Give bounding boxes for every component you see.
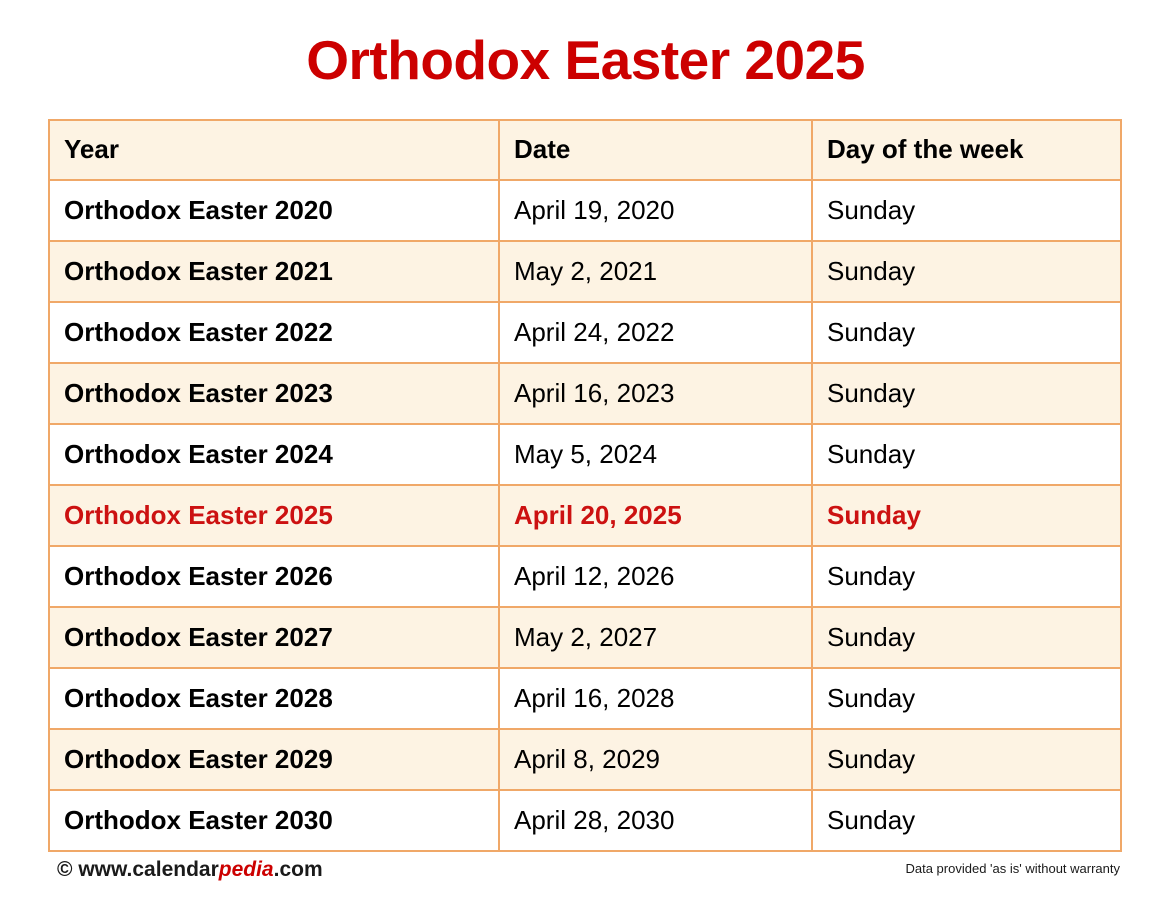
table-row: Orthodox Easter 2028April 16, 2028Sunday bbox=[49, 668, 1121, 729]
cell-day-of-week: Sunday bbox=[812, 180, 1121, 241]
cell-day-of-week: Sunday bbox=[812, 790, 1121, 851]
cell-day-of-week: Sunday bbox=[812, 607, 1121, 668]
cell-day-of-week: Sunday bbox=[812, 546, 1121, 607]
cell-date: April 28, 2030 bbox=[499, 790, 812, 851]
table-body: Orthodox Easter 2020April 19, 2020Sunday… bbox=[49, 180, 1121, 851]
table-row: Orthodox Easter 2026April 12, 2026Sunday bbox=[49, 546, 1121, 607]
cell-day-of-week: Sunday bbox=[812, 668, 1121, 729]
table-row: Orthodox Easter 2020April 19, 2020Sunday bbox=[49, 180, 1121, 241]
cell-year: Orthodox Easter 2029 bbox=[49, 729, 499, 790]
cell-date: May 5, 2024 bbox=[499, 424, 812, 485]
table-row: Orthodox Easter 2027May 2, 2027Sunday bbox=[49, 607, 1121, 668]
table-row: Orthodox Easter 2024May 5, 2024Sunday bbox=[49, 424, 1121, 485]
cell-year: Orthodox Easter 2027 bbox=[49, 607, 499, 668]
easter-dates-table-wrap: Year Date Day of the week Orthodox Easte… bbox=[48, 119, 1120, 852]
table-row: Orthodox Easter 2030April 28, 2030Sunday bbox=[49, 790, 1121, 851]
copyright-notice: © www.calendarpedia.com bbox=[57, 858, 323, 882]
calendarpedia-page: Orthodox Easter 2025 Year Date Day of th… bbox=[0, 0, 1171, 924]
cell-year: Orthodox Easter 2026 bbox=[49, 546, 499, 607]
site-name-accent: pedia bbox=[219, 858, 274, 881]
table-row: Orthodox Easter 2023April 16, 2023Sunday bbox=[49, 363, 1121, 424]
cell-date: May 2, 2027 bbox=[499, 607, 812, 668]
cell-date: May 2, 2021 bbox=[499, 241, 812, 302]
cell-date: April 8, 2029 bbox=[499, 729, 812, 790]
cell-day-of-week: Sunday bbox=[812, 424, 1121, 485]
cell-date: April 20, 2025 bbox=[499, 485, 812, 546]
cell-year: Orthodox Easter 2022 bbox=[49, 302, 499, 363]
cell-day-of-week: Sunday bbox=[812, 241, 1121, 302]
table-header: Year Date Day of the week bbox=[49, 120, 1121, 180]
cell-date: April 19, 2020 bbox=[499, 180, 812, 241]
cell-year: Orthodox Easter 2030 bbox=[49, 790, 499, 851]
cell-year: Orthodox Easter 2020 bbox=[49, 180, 499, 241]
cell-year: Orthodox Easter 2021 bbox=[49, 241, 499, 302]
column-header-year: Year bbox=[49, 120, 499, 180]
easter-dates-table: Year Date Day of the week Orthodox Easte… bbox=[48, 119, 1122, 852]
page-title: Orthodox Easter 2025 bbox=[0, 0, 1171, 88]
cell-year: Orthodox Easter 2023 bbox=[49, 363, 499, 424]
disclaimer-text: Data provided 'as is' without warranty bbox=[905, 861, 1120, 876]
cell-year: Orthodox Easter 2028 bbox=[49, 668, 499, 729]
table-row: Orthodox Easter 2025April 20, 2025Sunday bbox=[49, 485, 1121, 546]
cell-date: April 16, 2023 bbox=[499, 363, 812, 424]
table-row: Orthodox Easter 2029April 8, 2029Sunday bbox=[49, 729, 1121, 790]
cell-day-of-week: Sunday bbox=[812, 485, 1121, 546]
table-row: Orthodox Easter 2021May 2, 2021Sunday bbox=[49, 241, 1121, 302]
cell-date: April 16, 2028 bbox=[499, 668, 812, 729]
column-header-day-of-week: Day of the week bbox=[812, 120, 1121, 180]
cell-year: Orthodox Easter 2025 bbox=[49, 485, 499, 546]
cell-date: April 24, 2022 bbox=[499, 302, 812, 363]
column-header-date: Date bbox=[499, 120, 812, 180]
table-row: Orthodox Easter 2022April 24, 2022Sunday bbox=[49, 302, 1121, 363]
table-header-row: Year Date Day of the week bbox=[49, 120, 1121, 180]
site-name-prefix: www.calendar bbox=[72, 858, 218, 881]
cell-day-of-week: Sunday bbox=[812, 729, 1121, 790]
cell-day-of-week: Sunday bbox=[812, 363, 1121, 424]
cell-year: Orthodox Easter 2024 bbox=[49, 424, 499, 485]
cell-date: April 12, 2026 bbox=[499, 546, 812, 607]
cell-day-of-week: Sunday bbox=[812, 302, 1121, 363]
page-footer: © www.calendarpedia.com Data provided 'a… bbox=[48, 858, 1120, 892]
copyright-icon: © bbox=[57, 858, 72, 881]
site-name-suffix: .com bbox=[274, 858, 323, 881]
